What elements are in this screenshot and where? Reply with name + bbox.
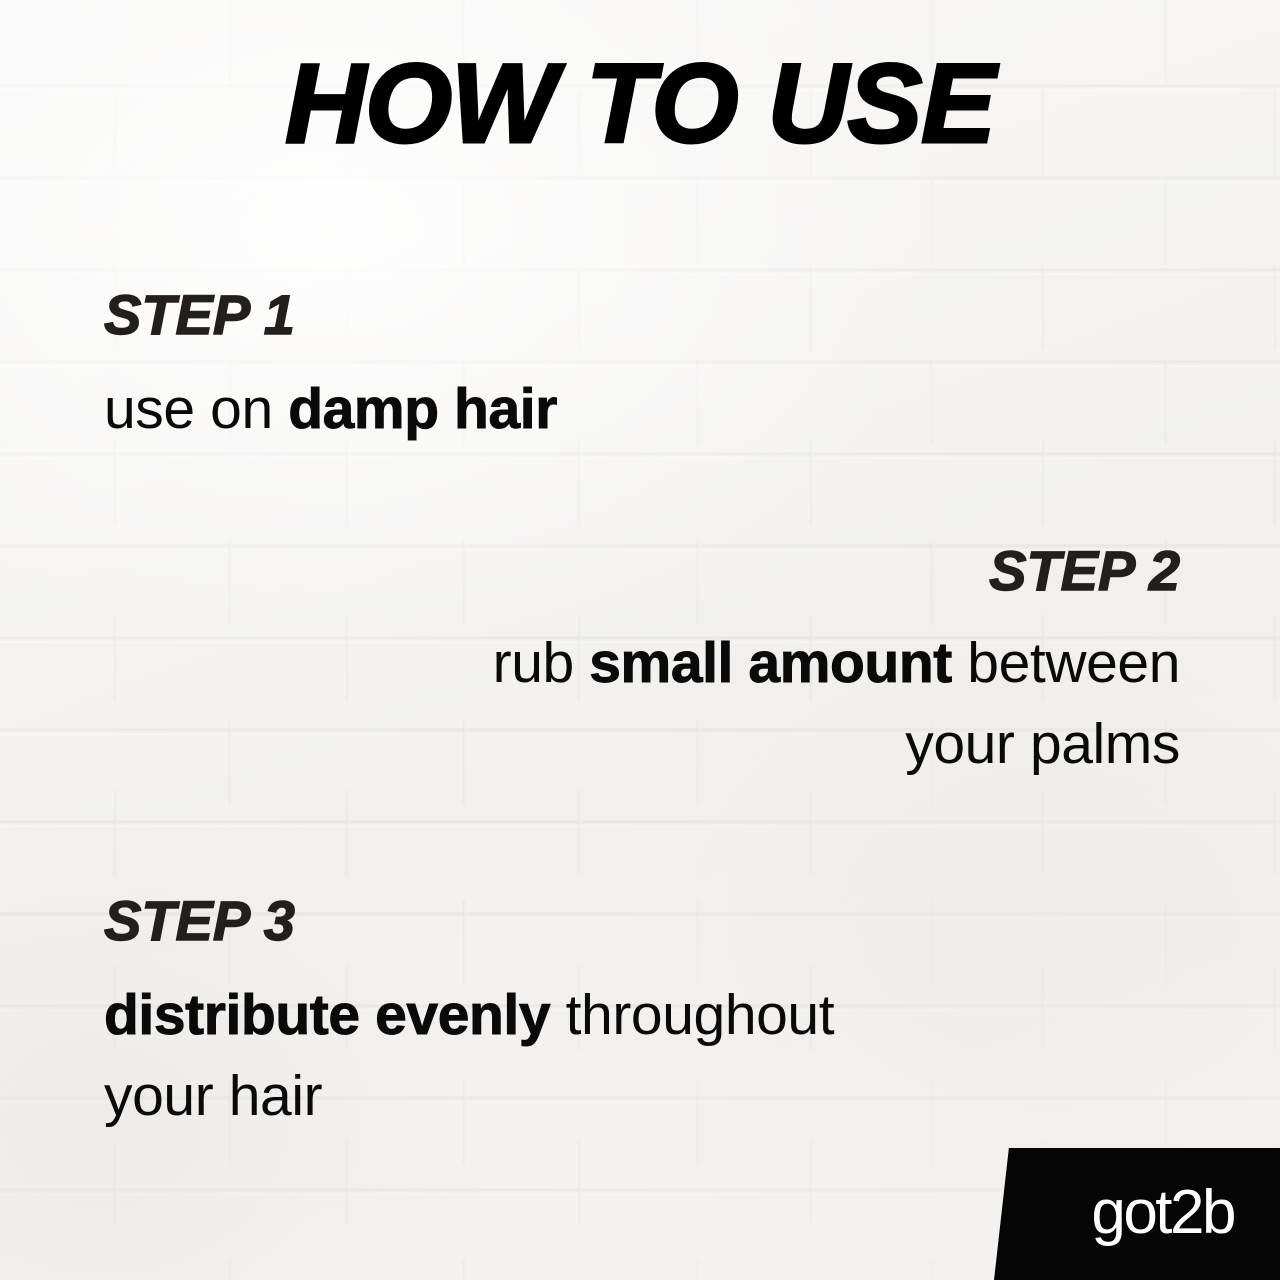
plain-text: use on bbox=[104, 377, 288, 441]
step-2-body: rub small amount betweenyour palms bbox=[493, 623, 1180, 785]
emphasis-text: damp hair bbox=[288, 377, 557, 441]
emphasis-text: small amount bbox=[589, 631, 952, 695]
poster-content: HOW TO USE STEP 1 use on damp hair STEP … bbox=[0, 0, 1280, 1280]
plain-text: between bbox=[952, 631, 1180, 695]
step-3-heading: STEP 3 bbox=[104, 892, 834, 949]
got2b-logo-badge: got2b bbox=[994, 1148, 1280, 1280]
step-3-body: distribute evenly throughoutyour hair bbox=[104, 975, 834, 1137]
got2b-logo-text: got2b bbox=[1091, 1182, 1234, 1244]
plain-text: your palms bbox=[905, 712, 1180, 776]
plain-text: throughout bbox=[550, 983, 834, 1047]
page-title: HOW TO USE bbox=[0, 48, 1280, 160]
how-to-use-poster: HOW TO USE STEP 1 use on damp hair STEP … bbox=[0, 0, 1280, 1280]
emphasis-text: distribute evenly bbox=[104, 983, 550, 1047]
step-3-block: STEP 3 distribute evenly throughoutyour … bbox=[104, 892, 834, 1137]
plain-text: rub bbox=[493, 631, 590, 695]
plain-text: your hair bbox=[104, 1064, 322, 1128]
step-2-block: STEP 2 rub small amount betweenyour palm… bbox=[493, 542, 1180, 785]
step-2-heading: STEP 2 bbox=[493, 542, 1180, 599]
step-1-heading: STEP 1 bbox=[104, 286, 557, 343]
step-1-body: use on damp hair bbox=[104, 369, 557, 450]
step-1-block: STEP 1 use on damp hair bbox=[104, 286, 557, 450]
